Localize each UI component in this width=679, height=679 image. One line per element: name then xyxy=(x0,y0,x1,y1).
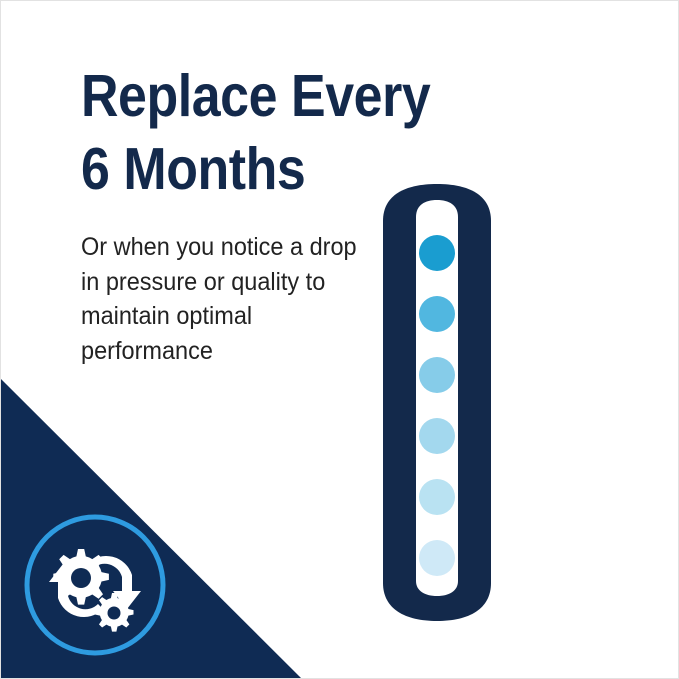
subheadline-text: Or when you notice a drop in pressure or… xyxy=(81,202,363,368)
gears-refresh-cycle-icon xyxy=(49,549,141,632)
cartridge-dot-2 xyxy=(419,296,455,332)
maintenance-badge xyxy=(19,509,171,661)
text-block: Replace Every 6 Months Or when you notic… xyxy=(81,63,411,368)
cartridge-dot-4 xyxy=(419,418,455,454)
cartridge-dot-6 xyxy=(419,540,455,576)
filter-cartridge-illustration xyxy=(380,181,494,627)
gear-large-hub xyxy=(71,568,91,588)
headline-line-1: Replace Every xyxy=(81,63,371,130)
headline-line-2: 6 Months xyxy=(81,136,371,203)
cartridge-dot-5 xyxy=(419,479,455,515)
gear-small-hub xyxy=(108,607,121,620)
infographic-canvas: Replace Every 6 Months Or when you notic… xyxy=(0,0,679,679)
cartridge-dot-3 xyxy=(419,357,455,393)
cartridge-dot-1 xyxy=(419,235,455,271)
